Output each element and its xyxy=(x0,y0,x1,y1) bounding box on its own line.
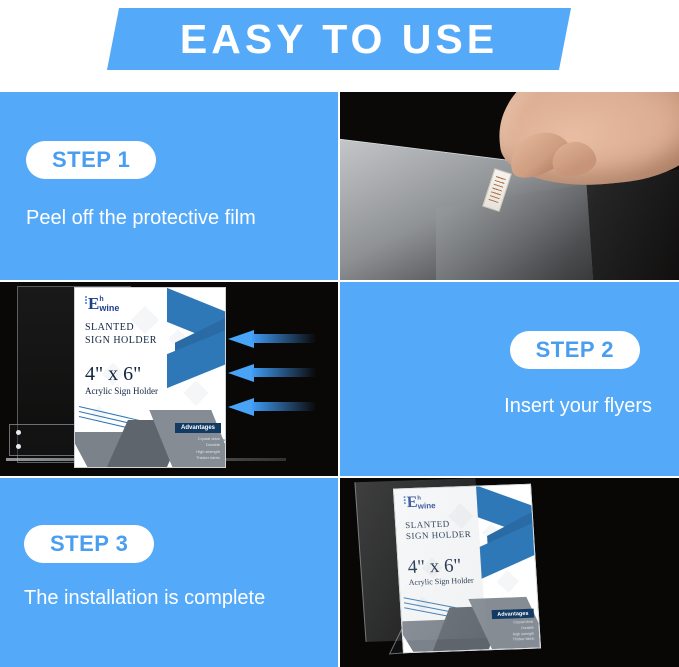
step-3-badge: STEP 3 xyxy=(24,525,154,563)
flyer-advantages-badge: Advantages xyxy=(492,609,535,619)
step-2-badge-label: STEP 2 xyxy=(536,339,614,361)
page-title: EASY TO USE xyxy=(180,19,498,60)
flyer-blue-ribbon xyxy=(157,300,226,392)
logo-dots-icon xyxy=(85,296,87,304)
flyer-brand-logo: E h wine xyxy=(85,296,119,313)
infographic-canvas: EASY TO USE STEP 1 Peel off the protecti… xyxy=(0,0,679,667)
flyer-subtitle: Acrylic Sign Holder xyxy=(85,387,158,396)
flyer-advantages-heading: Advantages xyxy=(497,610,529,617)
flyer-title: SLANTED SIGN HOLDER xyxy=(85,322,157,347)
logo-word-wine: wine xyxy=(99,304,119,313)
flyer-size: 4" x 6" xyxy=(85,364,141,384)
step-1-badge-label: STEP 1 xyxy=(52,149,130,171)
flyer-advantages-list: Crystal clear Durable High strength Thic… xyxy=(493,620,534,644)
base-screw-icon xyxy=(16,444,21,449)
arrow-left-icon xyxy=(228,364,316,381)
step-row-2: E h wine SLANTED SIGN HOLDER 4" x 6" Acr… xyxy=(0,282,679,476)
arrow-left-icon xyxy=(228,398,316,415)
list-item: Thicker fabric xyxy=(176,455,220,461)
flyer-title-line2: SIGN HOLDER xyxy=(85,335,157,348)
step-2-caption: Insert your flyers xyxy=(504,396,652,416)
step-2-text-panel: STEP 2 Insert your flyers xyxy=(340,282,679,476)
arrow-left-icon xyxy=(228,330,316,347)
flyer-advantages-badge: Advantages xyxy=(175,423,221,433)
acrylic-front-panel xyxy=(354,478,486,642)
step-3-text-panel: STEP 3 The installation is complete xyxy=(0,478,338,667)
step-1-badge: STEP 1 xyxy=(26,141,156,179)
base-screw-icon xyxy=(16,430,21,435)
insert-direction-arrows xyxy=(228,330,320,422)
step-1-text-panel: STEP 1 Peel off the protective film xyxy=(0,92,338,280)
step-1-caption: Peel off the protective film xyxy=(26,208,256,228)
flyer-advantages-heading: Advantages xyxy=(181,425,215,431)
step-3-photo-panel: E h wine SLANTED SIGN HOLDER 4" x 6" Acr… xyxy=(340,478,679,667)
step-1-photo-panel xyxy=(340,92,679,280)
photo-hand-peeling-film xyxy=(340,92,679,280)
photo-assembled-holder: E h wine SLANTED SIGN HOLDER 4" x 6" Acr… xyxy=(340,478,679,667)
step-row-3: STEP 3 The installation is complete xyxy=(0,478,679,667)
flyer-artwork: E h wine SLANTED SIGN HOLDER 4" x 6" Acr… xyxy=(74,287,226,468)
step-2-photo-panel: E h wine SLANTED SIGN HOLDER 4" x 6" Acr… xyxy=(0,282,338,476)
step-3-badge-label: STEP 3 xyxy=(50,533,128,555)
step-2-badge: STEP 2 xyxy=(510,331,640,369)
header-section: EASY TO USE xyxy=(0,0,679,92)
step-3-caption: The installation is complete xyxy=(24,588,265,608)
logo-letter-h: h xyxy=(99,296,119,303)
logo-letter-e: E xyxy=(88,296,99,311)
photo-flyer-insert: E h wine SLANTED SIGN HOLDER 4" x 6" Acr… xyxy=(0,282,338,476)
step-row-1: STEP 1 Peel off the protective film xyxy=(0,92,679,280)
flyer-advantages-list: Crystal clear Durable High strength Thic… xyxy=(176,436,220,461)
flyer-title-line1: SLANTED xyxy=(85,322,157,335)
header-banner: EASY TO USE xyxy=(107,8,571,70)
